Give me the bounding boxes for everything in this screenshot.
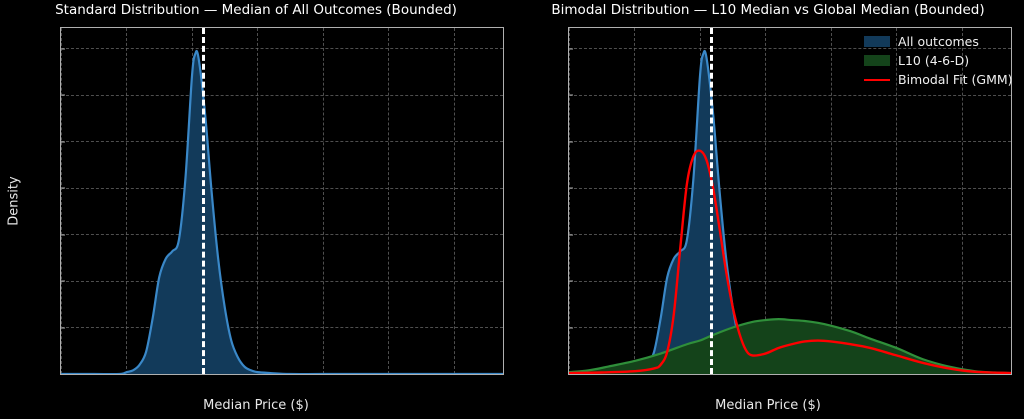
- legend-item-label: Bimodal Fit (GMM): [898, 72, 1013, 87]
- x-axis-tick-label: 55: [380, 374, 396, 375]
- legend-item-label: All outcomes: [898, 34, 979, 49]
- legend-item[interactable]: All outcomes: [864, 33, 1013, 50]
- legend-item-label: L10 (4-6-D): [898, 53, 969, 68]
- gridline-horizontal: [569, 374, 1011, 375]
- x-axis-tick-label: 53: [757, 374, 773, 375]
- series-fill: [61, 51, 503, 374]
- density-curves: [61, 28, 503, 374]
- legend: All outcomesL10 (4-6-D)Bimodal Fit (GMM): [864, 33, 1013, 88]
- legend-swatch-icon: [864, 79, 890, 81]
- median-reference-line: [710, 28, 713, 374]
- panel-bimodal-distribution: Bimodal Distribution — L10 Median vs Glo…: [512, 0, 1024, 419]
- median-reference-line: [202, 28, 205, 374]
- panel-title-bimodal: Bimodal Distribution — L10 Median vs Glo…: [512, 2, 1024, 18]
- x-axis-tick-label: 53: [249, 374, 265, 375]
- legend-swatch-icon: [864, 55, 890, 66]
- x-axis-tick-label: 56: [954, 374, 970, 375]
- panel-standard-distribution: Standard Distribution — Median of All Ou…: [0, 0, 512, 419]
- x-axis-tick-label: 51: [627, 374, 643, 375]
- x-axis-tick-label: 54: [823, 374, 839, 375]
- x-axis-tick-label: 51: [119, 374, 135, 375]
- y-axis-label-standard: Density: [7, 176, 22, 225]
- x-axis-tick-label: 56: [446, 374, 462, 375]
- x-axis-tick-label: 55: [888, 374, 904, 375]
- panel-title-standard: Standard Distribution — Median of All Ou…: [0, 2, 512, 18]
- plot-area-standard: 0.000.250.500.751.001.251.501.7550515253…: [60, 27, 504, 375]
- legend-item[interactable]: L10 (4-6-D): [864, 52, 1013, 69]
- gridline-horizontal: [61, 374, 503, 375]
- x-axis-tick-label: 52: [184, 374, 200, 375]
- x-axis-tick-label: 52: [692, 374, 708, 375]
- legend-swatch-icon: [864, 36, 890, 47]
- x-axis-label-standard: Median Price ($): [0, 398, 512, 413]
- legend-item[interactable]: Bimodal Fit (GMM): [864, 71, 1013, 88]
- series-line: [61, 51, 503, 374]
- x-axis-tick-label: 50: [60, 374, 69, 375]
- figure-canvas: Standard Distribution — Median of All Ou…: [0, 0, 1024, 419]
- x-axis-tick-label: 50: [568, 374, 577, 375]
- x-axis-label-bimodal: Median Price ($): [512, 398, 1024, 413]
- x-axis-tick-label: 54: [315, 374, 331, 375]
